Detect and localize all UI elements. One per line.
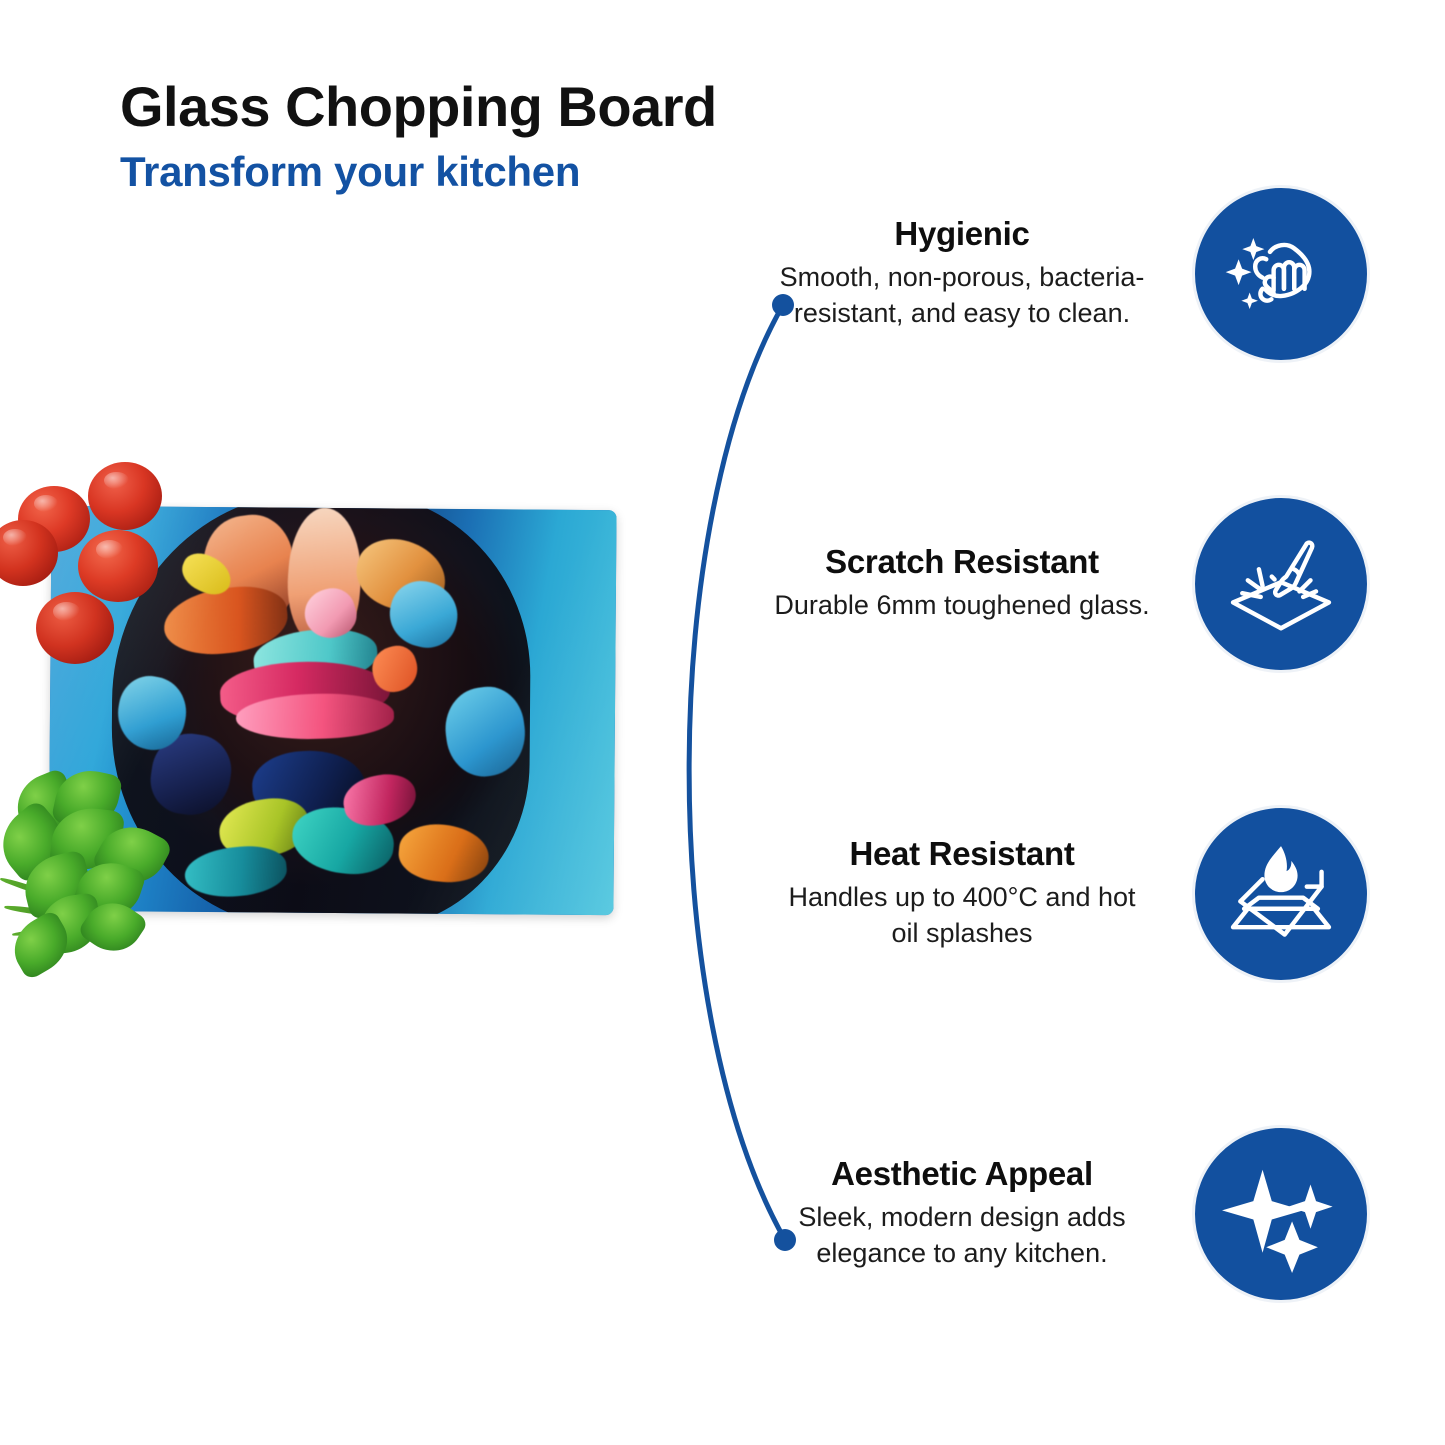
feature-aesthetic-appeal: Aesthetic Appeal Sleek, modern design ad… [760, 1125, 1370, 1303]
parsley-bunch [0, 770, 184, 970]
flame-deflect-icon [1192, 805, 1370, 983]
cherry-tomato [36, 592, 114, 664]
feature-title: Heat Resistant [772, 836, 1152, 873]
feature-hygienic: Hygienic Smooth, non-porous, bacteria-re… [760, 185, 1370, 363]
feature-title: Aesthetic Appeal [772, 1156, 1152, 1193]
feature-title: Hygienic [772, 216, 1152, 253]
cherry-tomato [88, 462, 162, 530]
feature-text-block: Heat Resistant Handles up to 400°C and h… [772, 836, 1152, 952]
feature-heat-resistant: Heat Resistant Handles up to 400°C and h… [760, 805, 1370, 983]
page-title: Glass Chopping Board [120, 78, 717, 137]
feature-scratch-resistant: Scratch Resistant Durable 6mm toughened … [760, 495, 1370, 673]
product-infographic: Glass Chopping Board Transform your kitc… [0, 0, 1445, 1445]
connector-path [689, 305, 785, 1240]
product-image [0, 440, 660, 980]
feature-description: Smooth, non-porous, bacteria-resistant, … [772, 259, 1152, 332]
feature-text-block: Aesthetic Appeal Sleek, modern design ad… [772, 1156, 1152, 1272]
feature-title: Scratch Resistant [772, 544, 1152, 581]
knife-on-surface-icon [1192, 495, 1370, 673]
page-subtitle: Transform your kitchen [120, 149, 717, 195]
hand-wipe-sparkle-icon [1192, 185, 1370, 363]
feature-description: Sleek, modern design adds elegance to an… [772, 1199, 1152, 1272]
feature-text-block: Scratch Resistant Durable 6mm toughened … [772, 544, 1152, 623]
feature-text-block: Hygienic Smooth, non-porous, bacteria-re… [772, 216, 1152, 332]
feature-description: Handles up to 400°C and hot oil splashes [772, 879, 1152, 952]
feature-description: Durable 6mm toughened glass. [772, 587, 1152, 623]
cherry-tomato [78, 530, 158, 602]
sparkles-icon [1192, 1125, 1370, 1303]
heading-block: Glass Chopping Board Transform your kitc… [120, 78, 717, 195]
